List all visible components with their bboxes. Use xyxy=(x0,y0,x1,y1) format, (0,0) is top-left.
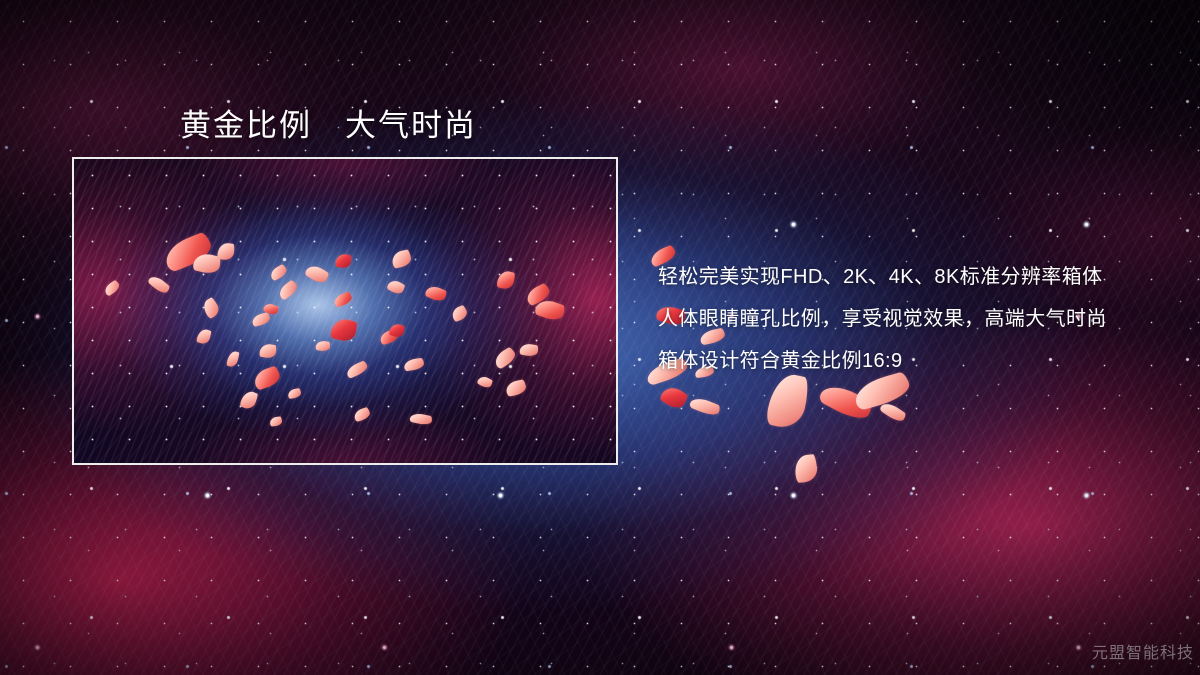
body-line: 箱体设计符合黄金比例16:9 xyxy=(658,340,1178,382)
frame-starfield xyxy=(74,159,616,463)
framed-image xyxy=(72,157,618,465)
petal-decoration xyxy=(794,454,819,483)
petal-decoration xyxy=(879,400,907,424)
page-title: 黄金比例 大气时尚 xyxy=(180,100,477,145)
slide-canvas: 黄金比例 大气时尚 轻松完美实现FHD、2K、4K、8K标准分辨率箱体 人体眼睛… xyxy=(0,0,1200,675)
petal-decoration xyxy=(817,379,874,425)
body-line: 轻松完美实现FHD、2K、4K、8K标准分辨率箱体 xyxy=(658,256,1178,298)
petal-decoration xyxy=(659,383,690,412)
body-line: 人体眼睛瞳孔比例，享受视觉效果，高端大气时尚 xyxy=(658,298,1178,340)
petal-decoration xyxy=(689,395,722,418)
watermark: 元盟智能科技 xyxy=(1092,639,1194,663)
body-text-block: 轻松完美实现FHD、2K、4K、8K标准分辨率箱体 人体眼睛瞳孔比例，享受视觉效… xyxy=(658,256,1178,382)
